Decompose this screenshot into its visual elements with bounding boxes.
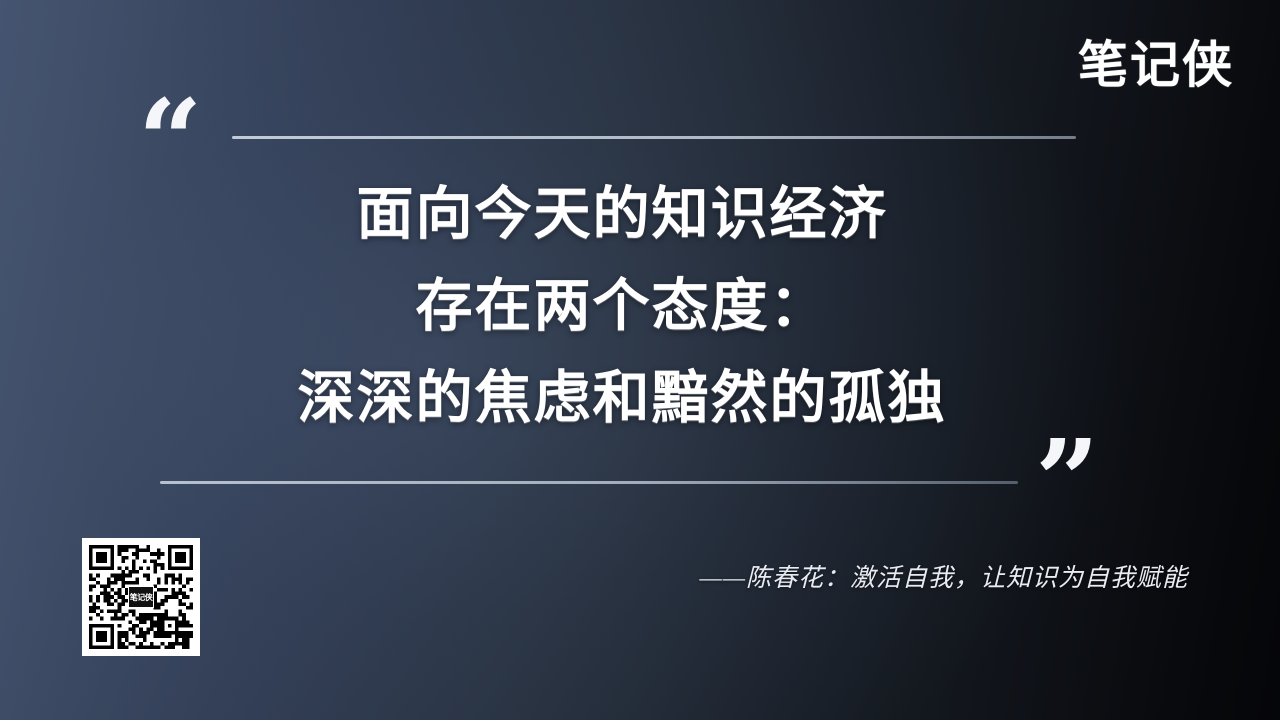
- quote-card: 笔记侠 “ 面向今天的知识经济 存在两个态度： 深深的焦虑和黯然的孤独 ” ——…: [0, 0, 1280, 720]
- quote-text-block: 面向今天的知识经济 存在两个态度： 深深的焦虑和黯然的孤独: [0, 168, 1280, 444]
- bottom-divider-rule: [160, 481, 1018, 484]
- quote-line-2: 存在两个态度：: [0, 260, 1244, 352]
- qr-code[interactable]: 笔记侠: [82, 538, 200, 656]
- closing-quote-icon: ”: [1035, 426, 1099, 538]
- qr-center-logo: 笔记侠: [128, 586, 154, 608]
- brand-wordmark: 笔记侠: [1078, 40, 1234, 90]
- quote-line-1: 面向今天的知识经济: [0, 168, 1244, 260]
- top-divider-rule: [232, 136, 1076, 139]
